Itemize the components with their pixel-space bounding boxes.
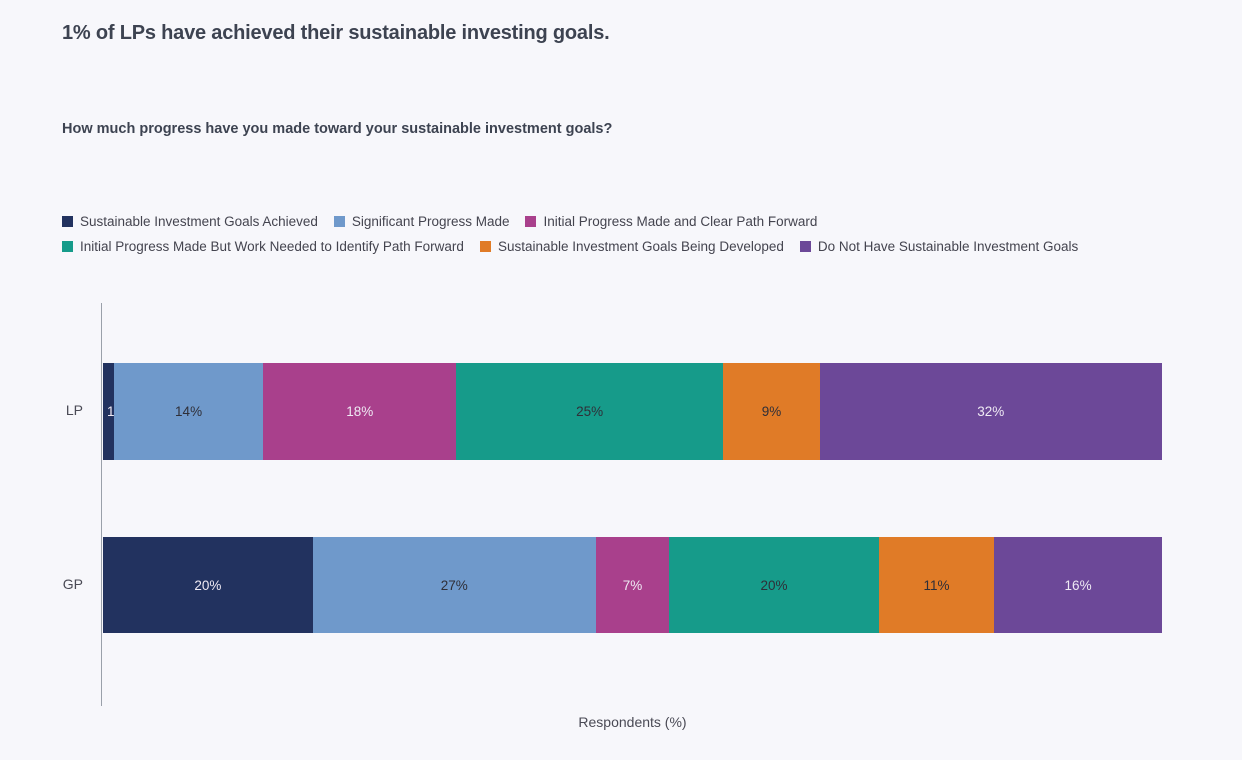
bar-segment[interactable]: 27% xyxy=(313,537,596,633)
category-label-gp: GP xyxy=(23,576,83,592)
y-axis-line xyxy=(101,303,102,706)
bar-segment[interactable]: 32% xyxy=(820,363,1162,460)
bar-row-gp: 20%27%7%20%11%16% xyxy=(103,537,1162,633)
category-label-lp: LP xyxy=(23,402,83,418)
bar-segment-label: 16% xyxy=(1065,578,1092,593)
bar-segment[interactable]: 20% xyxy=(103,537,313,633)
bar-segment[interactable]: 18% xyxy=(263,363,456,460)
bar-segment-label: 20% xyxy=(194,578,221,593)
bar-segment[interactable]: 11% xyxy=(879,537,994,633)
bar-segment[interactable]: 14% xyxy=(114,363,264,460)
bar-segment[interactable]: 16% xyxy=(994,537,1162,633)
bar-segment-label: 14% xyxy=(175,404,202,419)
bar-segment-label: 11% xyxy=(924,578,950,593)
bar-segment-label: 18% xyxy=(346,404,373,419)
bar-segment-label: 32% xyxy=(977,404,1004,419)
bar-segment[interactable]: 7% xyxy=(596,537,669,633)
x-axis-title: Respondents (%) xyxy=(103,714,1162,730)
bar-segment[interactable]: 9% xyxy=(723,363,819,460)
bar-row-lp: 1%14%18%25%9%32% xyxy=(103,363,1162,460)
stacked-bar-chart: LP GP 1%14%18%25%9%32% 20%27%7%20%11%16%… xyxy=(0,0,1242,760)
bar-segment[interactable]: 25% xyxy=(456,363,723,460)
bar-segment-label: 25% xyxy=(576,404,603,419)
bar-segment-label: 9% xyxy=(762,404,782,419)
bar-segment[interactable]: 1% xyxy=(103,363,114,460)
bar-segment-label: 20% xyxy=(761,578,788,593)
bar-segment-label: 27% xyxy=(441,578,468,593)
bar-segment[interactable]: 20% xyxy=(669,537,879,633)
bar-segment-label: 7% xyxy=(623,578,643,593)
